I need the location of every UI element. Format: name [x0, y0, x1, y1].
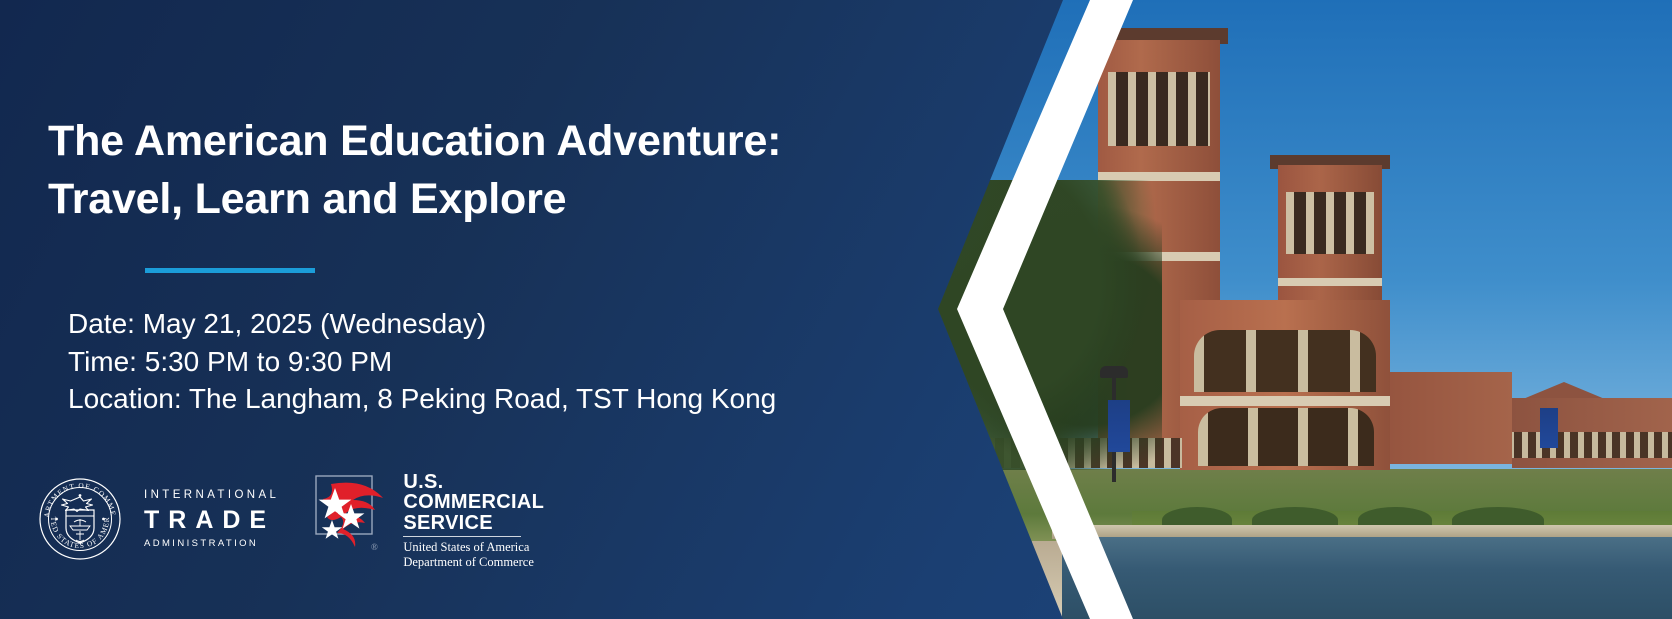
ucs-sub-line-2: Department of Commerce — [403, 555, 544, 570]
event-location: Location: The Langham, 8 Peking Road, TS… — [68, 380, 776, 418]
event-details: Date: May 21, 2025 (Wednesday) Time: 5:3… — [68, 305, 776, 418]
ita-line-2: TRADE — [144, 508, 279, 533]
title-line-2: Travel, Learn and Explore — [48, 170, 928, 228]
ucs-line-2: COMMERCIAL — [403, 492, 544, 512]
event-time: Time: 5:30 PM to 9:30 PM — [68, 343, 776, 381]
department-of-commerce-seal-icon: DEPARTMENT OF COMMERCE UNITED STATES OF … — [38, 477, 122, 561]
ucs-line-1: U.S. — [403, 472, 544, 492]
us-commercial-service-logo: ® U.S. COMMERCIAL SERVICE United States … — [315, 468, 544, 571]
banner-content: The American Education Adventure: Travel… — [0, 0, 1672, 619]
accent-rule — [145, 268, 315, 273]
ita-line-3: ADMINISTRATION — [144, 539, 279, 549]
ucs-sub-line-1: United States of America — [403, 540, 544, 555]
svg-text:®: ® — [371, 542, 378, 552]
page-title: The American Education Adventure: Travel… — [48, 112, 928, 229]
event-date: Date: May 21, 2025 (Wednesday) — [68, 305, 776, 343]
ucs-line-3: SERVICE — [403, 513, 544, 533]
ita-line-1: INTERNATIONAL — [144, 490, 279, 502]
international-trade-administration-logo: INTERNATIONAL TRADE ADMINISTRATION — [144, 490, 279, 549]
stars-and-swoosh-icon: ® — [315, 468, 393, 556]
logo-row: DEPARTMENT OF COMMERCE UNITED STATES OF … — [38, 468, 544, 571]
ucs-divider — [403, 536, 521, 537]
title-line-1: The American Education Adventure: — [48, 112, 928, 170]
us-commercial-service-wordmark: U.S. COMMERCIAL SERVICE United States of… — [403, 468, 544, 571]
event-banner: The American Education Adventure: Travel… — [0, 0, 1672, 619]
